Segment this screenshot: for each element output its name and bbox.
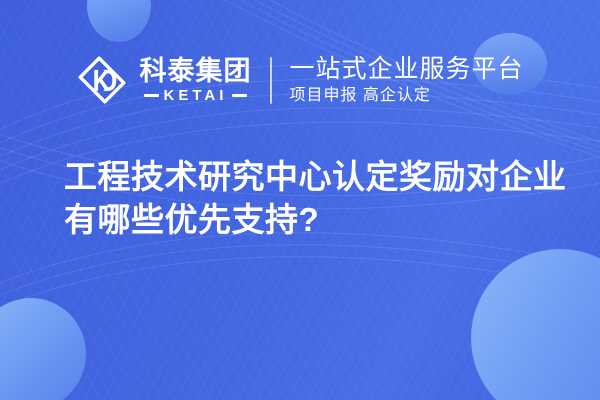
- brand-lockup: 科泰集团 KETAI: [76, 54, 251, 106]
- brand-name-en-row: KETAI: [139, 88, 251, 103]
- brand-dash-left-icon: [144, 94, 159, 97]
- headline: 工程技术研究中心认定奖励对企业 有哪些优先支持?: [64, 155, 564, 241]
- brand-tagline-divider: [270, 57, 272, 104]
- headline-line-1: 工程技术研究中心认定奖励对企业: [64, 155, 564, 198]
- brand-name-en: KETAI: [164, 88, 228, 103]
- tagline-block: 一站式企业服务平台 项目申报 高企认定: [289, 56, 523, 105]
- tagline-sub: 项目申报 高企认定: [289, 87, 523, 105]
- brand-dash-right-icon: [232, 94, 247, 97]
- headline-line-2: 有哪些优先支持?: [64, 198, 564, 241]
- banner-header: 科泰集团 KETAI 一站式企业服务平台 项目申报 高企认定: [0, 42, 600, 118]
- tagline-main: 一站式企业服务平台: [289, 56, 523, 83]
- brand-name-cn: 科泰集团: [139, 57, 251, 86]
- ketai-diamond-kd-monogram-icon: [76, 54, 128, 106]
- brand-wordmark: 科泰集团 KETAI: [139, 57, 251, 103]
- promo-banner: 科泰集团 KETAI 一站式企业服务平台 项目申报 高企认定 工程技术研究中心认…: [0, 0, 600, 400]
